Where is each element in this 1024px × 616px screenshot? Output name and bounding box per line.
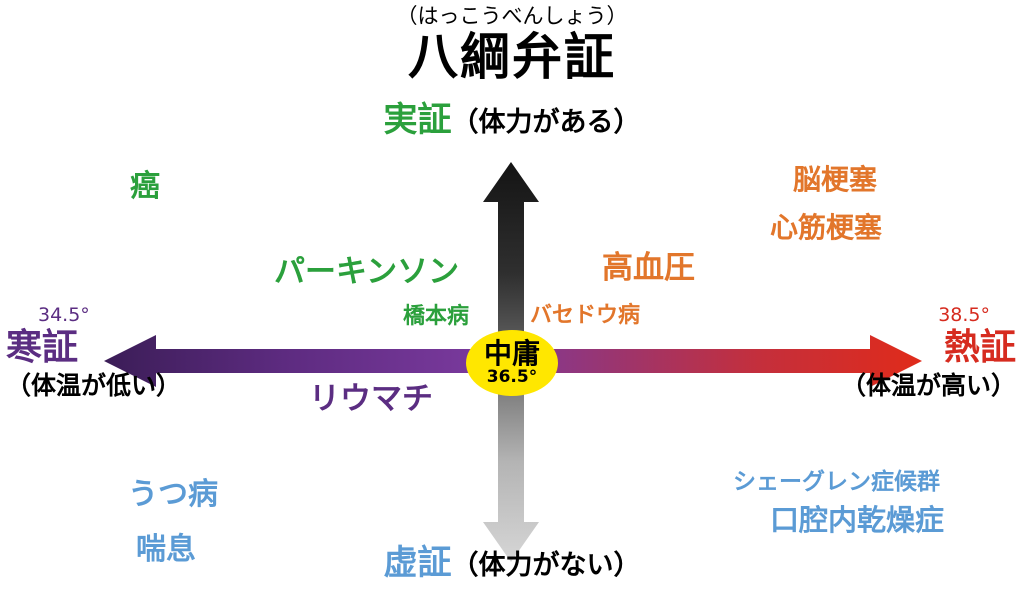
- axis-label-top: 実証（体力がある）: [0, 103, 1024, 137]
- disease-label-parkinson: パーキンソン: [274, 255, 459, 291]
- disease-label-asthma: 喘息: [136, 533, 196, 568]
- center-temperature: 36.5°: [487, 369, 537, 386]
- title-furigana: （はっこうべんしょう）: [0, 6, 1024, 27]
- axis-note-nessho: （体温が高い）: [776, 373, 1016, 398]
- axis-note-kansho: （体温が低い）: [6, 373, 236, 398]
- center-node-chuyo: 中庸 36.5°: [466, 330, 558, 396]
- axis-term-jitsusho: 実証: [384, 100, 452, 140]
- axis-note-jitsusho: （体力がある）: [452, 107, 641, 138]
- axis-term-kyosho: 虚証: [384, 543, 452, 583]
- disease-label-xerostomia: 口腔内乾燥症: [770, 504, 944, 538]
- page-title: （はっこうべんしょう） 八綱弁証: [0, 6, 1024, 85]
- disease-label-basedow: バセドウ病: [530, 303, 640, 329]
- temperature-tick-high: 38.5°: [776, 306, 990, 325]
- axis-label-right: 38.5° 熱証 （体温が高い）: [776, 306, 1016, 398]
- axis-term-nessho: 熱証: [776, 329, 1016, 367]
- axis-term-kansho: 寒証: [6, 329, 236, 367]
- disease-label-hypertension: 高血圧: [602, 251, 695, 287]
- disease-label-depression: うつ病: [128, 478, 218, 513]
- temperature-tick-low: 34.5°: [38, 306, 236, 325]
- diagram-canvas: （はっこうべんしょう） 八綱弁証: [0, 0, 1024, 616]
- axis-note-kyosho: （体力がない）: [452, 550, 641, 581]
- disease-label-rheumatism: リウマチ: [309, 382, 433, 418]
- disease-label-hashimoto: 橋本病: [403, 304, 469, 330]
- title-main: 八綱弁証: [0, 29, 1024, 85]
- disease-label-myocardial-infarction: 心筋梗塞: [770, 212, 882, 244]
- center-term: 中庸: [484, 340, 540, 368]
- disease-label-sjogren-syndrome: シェーグレン症候群: [733, 469, 940, 496]
- disease-label-cerebral-infarction: 脳梗塞: [793, 164, 877, 196]
- disease-label-cancer: 癌: [130, 170, 160, 205]
- axis-label-left: 34.5° 寒証 （体温が低い）: [6, 306, 236, 398]
